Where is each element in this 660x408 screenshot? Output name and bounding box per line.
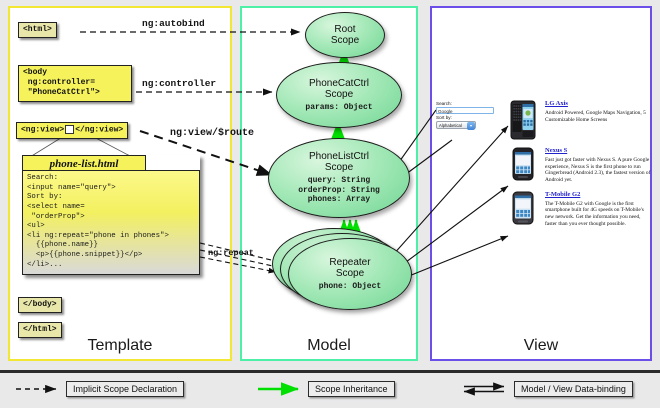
code-tag-ngview: <ng:view></ng:view>	[16, 122, 128, 139]
scope-phonelistctrl-props: query: StringorderProp: Stringphones: Ar…	[298, 176, 380, 205]
callout-title: phone-list.html	[22, 155, 146, 171]
wire-label-ngrepeat: ng:repeat	[208, 248, 254, 258]
legend-item-implicit-scope: Implicit Scope Declaration	[14, 381, 184, 397]
view-search-panel: Search: Google Sort by: Alphabetical▾	[436, 101, 498, 129]
list-item[interactable]: LG Axis Android Powered, Google Maps Nav…	[505, 100, 651, 140]
wire-label-controller: ng:controller	[142, 78, 216, 89]
column-label-template: Template	[10, 337, 230, 355]
scope-root: RootScope	[305, 12, 385, 58]
sort-select-value: Alphabetical	[439, 123, 462, 128]
phone-thumbnail-nexus-s	[505, 147, 541, 184]
phone-snippet: Android Powered, Google Maps Navigation,…	[545, 110, 651, 124]
phone-thumbnail-tmobile-g2	[505, 191, 541, 228]
legend-label-implicit-scope: Implicit Scope Declaration	[66, 381, 184, 397]
wire-label-autobind: ng:autobind	[142, 18, 205, 29]
legend-item-scope-inheritance: Scope Inheritance	[256, 381, 395, 397]
scope-root-name: RootScope	[331, 24, 359, 46]
search-label: Search:	[436, 101, 498, 107]
wire-label-ngview-route: ng:view/$route	[170, 128, 254, 139]
ngview-open-text: <ng:view>	[21, 126, 64, 135]
phone-thumbnail-lg-axis	[505, 100, 541, 140]
scope-phonelistctrl: PhoneListCtrlScope query: StringorderPro…	[268, 138, 410, 218]
phone-name-link[interactable]: Nexus S	[545, 147, 651, 155]
list-item[interactable]: Nexus S Fast just got faster with Nexus …	[505, 147, 651, 184]
legend-label-scope-inheritance: Scope Inheritance	[308, 381, 395, 397]
chevron-down-icon: ▾	[467, 122, 475, 130]
column-label-view: View	[432, 337, 650, 355]
dashed-arrow-icon	[14, 382, 66, 396]
phone-meta: T-Mobile G2 The T-Mobile G2 with Google …	[541, 191, 651, 228]
code-tag-html-close: </html>	[18, 322, 62, 338]
legend-item-data-binding: Model / View Data-binding	[462, 381, 633, 397]
diagram-canvas: Template Model View	[0, 0, 660, 405]
column-label-model: Model	[242, 337, 416, 355]
green-arrow-icon	[256, 382, 308, 396]
legend-label-data-binding: Model / View Data-binding	[514, 381, 633, 397]
scope-repeater-name: RepeaterScope	[329, 257, 370, 279]
view-phone-list: LG Axis Android Powered, Google Maps Nav…	[505, 100, 651, 235]
phone-snippet: The T-Mobile G2 with Google is the first…	[545, 201, 651, 228]
sort-label: Sort by:	[436, 115, 498, 121]
phone-snippet: Fast just got faster with Nexus S. A pur…	[545, 157, 651, 184]
ngview-close-text: </ng:view>	[75, 126, 123, 135]
scope-repeater-props: phone: Object	[319, 282, 381, 292]
phone-name-link[interactable]: LG Axis	[545, 100, 651, 108]
legend-bar: Implicit Scope Declaration Scope Inherit…	[0, 370, 660, 408]
list-item[interactable]: T-Mobile G2 The T-Mobile G2 with Google …	[505, 191, 651, 228]
template-callout-phone-list: phone-list.html Search:<input name="quer…	[22, 155, 200, 275]
scope-phonecatctrl-props: params: Object	[305, 103, 372, 113]
phone-meta: LG Axis Android Powered, Google Maps Nav…	[541, 100, 651, 140]
phone-name-link[interactable]: T-Mobile G2	[545, 191, 651, 199]
scope-phonecatctrl-name: PhoneCatCtrlScope	[309, 78, 369, 100]
ngview-placeholder-box	[65, 125, 74, 134]
callout-code: Search:<input name="query">Sort by:<sele…	[22, 170, 200, 275]
sort-select[interactable]: Alphabetical▾	[436, 121, 476, 129]
scope-phonecatctrl: PhoneCatCtrlScope params: Object	[276, 62, 402, 128]
code-tag-html-open: <html>	[18, 22, 57, 38]
search-input[interactable]: Google	[436, 107, 494, 114]
phone-meta: Nexus S Fast just got faster with Nexus …	[541, 147, 651, 184]
code-tag-body-open: <body ng:controller= "PhoneCatCtrl">	[18, 65, 132, 102]
scope-phonelistctrl-name: PhoneListCtrlScope	[309, 151, 369, 173]
scope-repeater: RepeaterScope phone: Object	[288, 238, 412, 310]
double-arrow-icon	[462, 382, 514, 396]
code-tag-body-close: </body>	[18, 297, 62, 313]
